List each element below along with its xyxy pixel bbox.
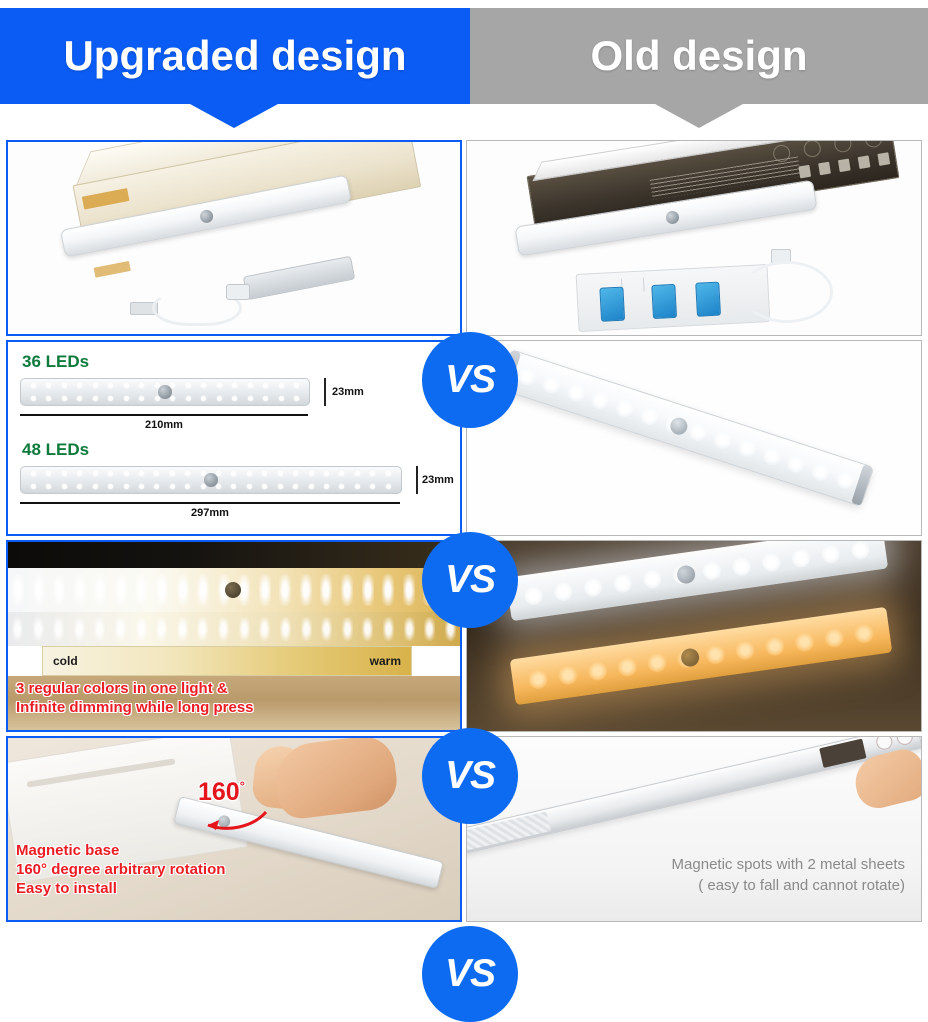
old-bar-buttons [875,736,915,751]
old-usb-cable [735,249,855,325]
cct-caption-line2: Infinite dimming while long press [16,699,254,717]
row-cct-upgraded: cold warm 3 regular colors in one light … [6,540,462,732]
cct-led-strip-bottom [8,612,460,646]
length-line-36 [20,414,308,416]
length-label-36: 210mm [20,419,308,431]
usb-charging-cable [130,282,250,326]
height-tick-48 [416,466,418,494]
row-packaging-upgraded-photo: LED round bar smart sensor light LED 圆 灯… [6,140,462,336]
row-mounting-upgraded-photo: 160° Magnetic base 160° degree arbitrary… [6,736,462,922]
led-bar-36-sensor-icon [158,385,172,399]
height-label-48: 23mm [422,474,454,486]
old-magnetic-light-bar [466,736,922,854]
mounting-caption-line2: 160° degree arbitrary rotation [16,861,225,879]
vs-badge-row4: VS [422,926,518,1022]
cct-caption-line1: 3 regular colors in one light & [16,680,228,698]
spec-title-36-leds: 36 LEDs [22,352,448,372]
rotation-arrow-icon [196,808,270,834]
header-tab-upgraded-label: Upgraded design [63,32,406,80]
header-pointer-upgraded [190,104,278,128]
row-led-specs-upgraded: 36 LEDs [6,340,462,536]
rotation-angle-label: 160° [198,778,245,807]
old-motion-sensor-icon [665,210,680,225]
cct-warm-label: warm [370,654,401,668]
led-bar-48-sensor-icon [204,473,218,487]
old-mounting-caption-line1: Magnetic spots with 2 metal sheets [672,855,905,875]
adhesive-pad [695,282,721,317]
header-tab-old: Old design [470,8,928,104]
adhesive-pad [599,287,625,322]
row-mounting-old-photo: Magnetic spots with 2 metal sheets ( eas… [466,736,922,922]
row-led-specs-old-photo [466,340,922,536]
spec-title-48-leds: 48 LEDs [22,440,448,460]
header-pointer-old [655,104,743,128]
magnetic-spot-patch [819,739,866,768]
adhesive-pad [651,284,677,319]
length-label-48: 297mm [20,507,400,519]
row-cct-old-photo [466,540,922,732]
row-packaging-old-photo [466,140,922,336]
led-bar-48 [20,466,402,494]
led-bar-36 [20,378,310,406]
old-warm-white-bar [510,607,893,705]
vs-badge-row2: VS [422,532,518,628]
old-mounting-caption-line2: ( easy to fall and cannot rotate) [698,876,905,896]
header-tab-upgraded: Upgraded design [0,8,470,104]
header-tab-old-label: Old design [590,32,807,80]
old-cool-white-bar [506,540,888,621]
mounting-caption-line3: Easy to install [16,880,117,898]
cct-sensor-icon [225,582,241,598]
vs-badge-row1: VS [422,332,518,428]
length-line-48 [20,502,400,504]
mounting-caption-line1: Magnetic base [16,842,119,860]
height-label-36: 23mm [332,386,364,398]
motion-sensor-icon [199,209,214,224]
row-packaging: LED round bar smart sensor light LED 圆 灯… [6,140,922,336]
cct-gradient-scale: cold warm [42,646,412,676]
infographic-page: Upgraded design Old design L [0,0,928,928]
cct-cold-label: cold [53,654,78,668]
comparison-header: Upgraded design Old design [0,8,928,113]
comparison-grid: LED round bar smart sensor light LED 圆 灯… [6,140,922,922]
old-lit-light-bar [498,349,874,507]
height-tick-36 [324,378,326,406]
vs-badge-row3: VS [422,728,518,824]
